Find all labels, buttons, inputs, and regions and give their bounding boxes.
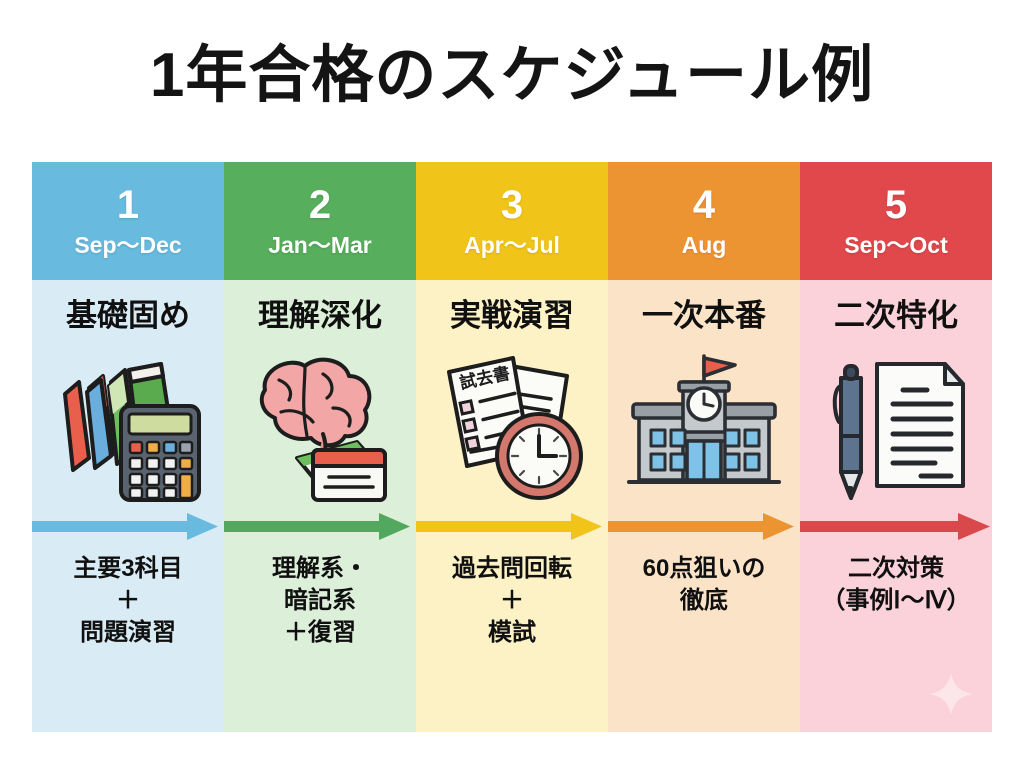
phase-arrow-3 — [416, 509, 608, 543]
phase-description-3: 過去問回転 ＋ 模試 — [452, 553, 572, 649]
phase-column-3[interactable]: 3 Apr～Jul 実戦演習 試去書 — [416, 162, 608, 732]
phase-header-2: 2 Jan～Mar — [224, 162, 416, 280]
phase-arrow-5 — [800, 509, 992, 543]
phase-description-5: 二次対策 （事例Ⅰ～Ⅳ） — [821, 553, 970, 617]
phase-period-2: Jan～Mar — [268, 232, 372, 258]
phase-number-3: 3 — [501, 184, 523, 226]
school-building-icon — [619, 342, 789, 507]
phase-description-1: 主要3科目 ＋ 問題演習 — [73, 553, 182, 649]
infographic-root: 1年合格のスケジュール例 1 Sep～Dec 基礎固め — [0, 0, 1024, 765]
phase-number-1: 1 — [117, 184, 139, 226]
pen-document-icon — [811, 342, 981, 507]
phase-description-4: 60点狙いの 徹底 — [643, 553, 766, 617]
phase-period-1: Sep～Dec — [74, 232, 181, 258]
books-calculator-icon — [43, 342, 213, 507]
brain-flashcards-icon — [235, 342, 405, 507]
phase-arrow-4 — [608, 509, 800, 543]
phase-stage-1: 基礎固め — [66, 298, 190, 334]
phase-arrow-2 — [224, 509, 416, 543]
phase-body-3: 実戦演習 試去書 — [416, 280, 608, 732]
phase-column-5[interactable]: 5 Sep～Oct 二次特化 — [800, 162, 992, 732]
phase-stage-5: 二次特化 — [834, 298, 958, 334]
page-title: 1年合格のスケジュール例 — [0, 40, 1024, 112]
schedule-panel: 1 Sep～Dec 基礎固め — [32, 162, 992, 732]
phase-header-5: 5 Sep～Oct — [800, 162, 992, 280]
phase-header-4: 4 Aug — [608, 162, 800, 280]
phase-number-5: 5 — [885, 184, 907, 226]
phase-period-3: Apr～Jul — [464, 232, 560, 258]
phase-column-1[interactable]: 1 Sep～Dec 基礎固め — [32, 162, 224, 732]
phase-arrow-1 — [32, 509, 224, 543]
phase-number-2: 2 — [309, 184, 331, 226]
phase-header-3: 3 Apr～Jul — [416, 162, 608, 280]
past-exam-papers-clock-icon: 試去書 — [427, 342, 597, 507]
phase-stage-4: 一次本番 — [642, 298, 766, 334]
phase-body-5: 二次特化 — [800, 280, 992, 732]
phase-header-1: 1 Sep～Dec — [32, 162, 224, 280]
phase-description-2: 理解系・ 暗記系 ＋復習 — [272, 553, 368, 649]
phase-period-5: Sep～Oct — [844, 232, 948, 258]
phase-stage-3: 実戦演習 — [450, 298, 574, 334]
phase-body-2: 理解深化 — [224, 280, 416, 732]
phase-body-4: 一次本番 — [608, 280, 800, 732]
phase-number-4: 4 — [693, 184, 715, 226]
phase-column-4[interactable]: 4 Aug 一次本番 — [608, 162, 800, 732]
phase-stage-2: 理解深化 — [258, 298, 382, 334]
phase-column-2[interactable]: 2 Jan～Mar 理解深化 — [224, 162, 416, 732]
sparkle-decoration-icon — [928, 671, 974, 722]
phase-body-1: 基礎固め — [32, 280, 224, 732]
phase-period-4: Aug — [682, 232, 727, 258]
